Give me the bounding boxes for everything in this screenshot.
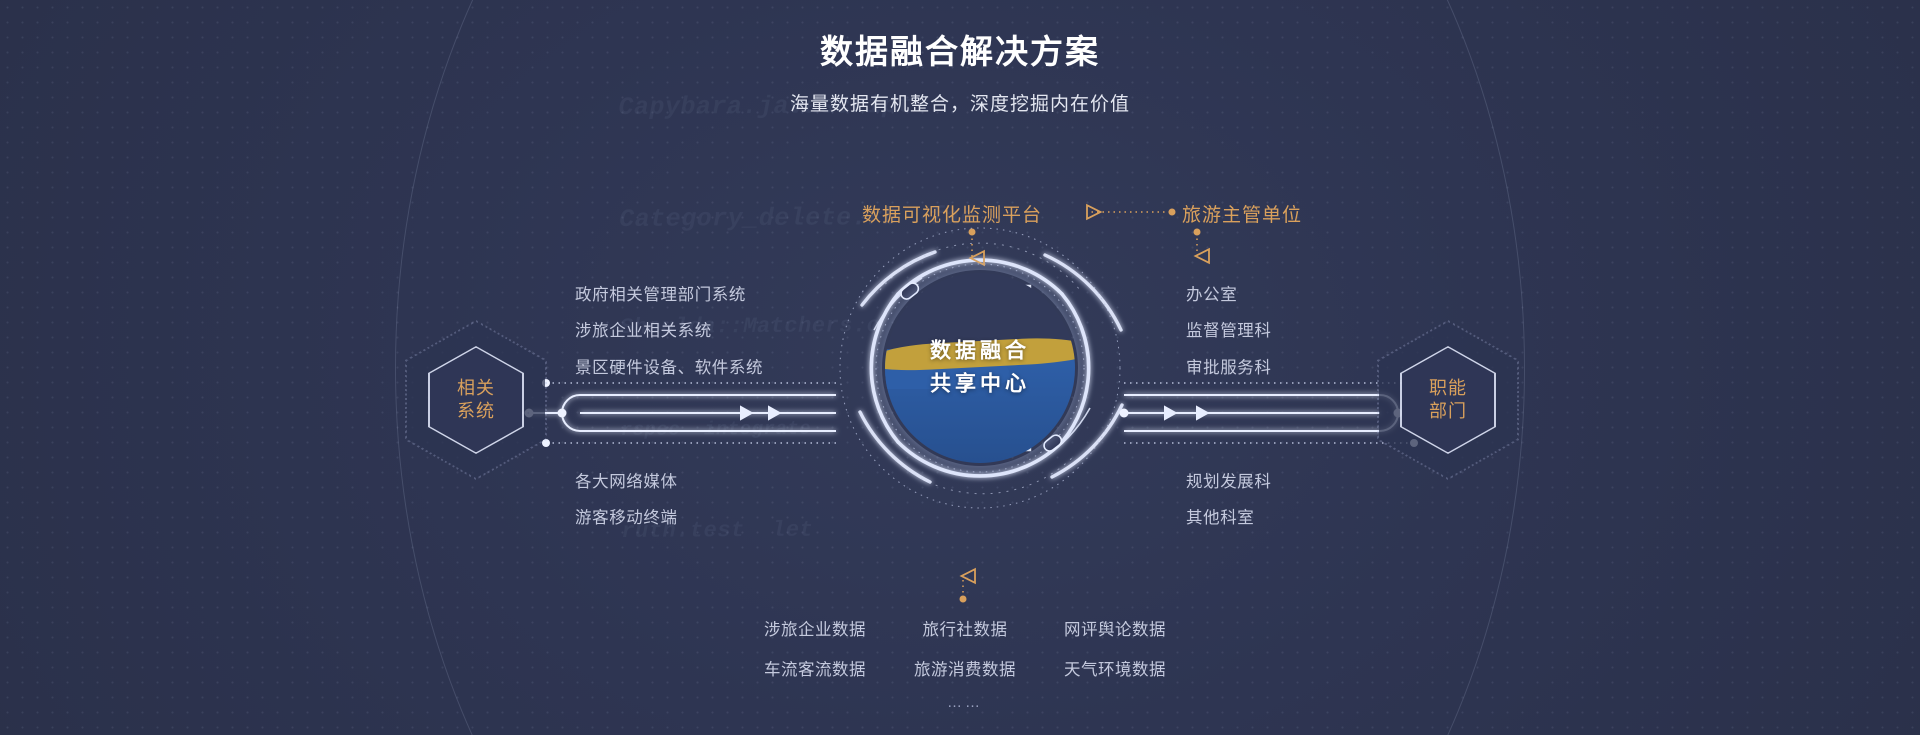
dept-other: 其他科室 — [1186, 504, 1254, 528]
hexagon-right-line1: 职能 — [1429, 377, 1467, 400]
dept-planning-development: 规划发展科 — [1186, 468, 1272, 492]
core-label-line2: 共享中心 — [864, 368, 1096, 401]
bottom-data-row: 涉旅企业数据 旅行社数据 网评舆论数据 — [740, 608, 1190, 648]
bottom-data-ellipsis: …… — [740, 694, 1190, 711]
dept-approval-service: 审批服务科 — [1186, 354, 1272, 378]
hexagon-right-text: 职能 部门 — [1429, 377, 1467, 424]
source-government-systems: 政府相关管理部门系统 — [575, 281, 746, 305]
hexagon-functional-departments[interactable]: 职能 部门 — [1400, 346, 1496, 454]
core-label-line1: 数据融合 — [864, 335, 1096, 368]
source-tourism-enterprise-systems: 涉旅企业相关系统 — [575, 317, 712, 341]
hexagon-left-line1: 相关 — [457, 377, 495, 400]
bottom-data-cell: 涉旅企业数据 — [740, 608, 890, 648]
bottom-data-cell: 旅游消费数据 — [890, 648, 1040, 688]
source-network-media: 各大网络媒体 — [575, 468, 678, 492]
hexagon-right-line2: 部门 — [1429, 400, 1467, 423]
bottom-data-cell: 旅行社数据 — [890, 608, 1040, 648]
hexagon-left-line2: 系统 — [457, 400, 495, 423]
bottom-data-sources: 涉旅企业数据 旅行社数据 网评舆论数据 车流客流数据 旅游消费数据 天气环境数据… — [740, 608, 1190, 711]
page-subtitle: 海量数据有机整合，深度挖掘内在价值 — [0, 89, 1920, 116]
bottom-data-cell: 网评舆论数据 — [1040, 608, 1190, 648]
source-scenic-hardware-software: 景区硬件设备、软件系统 — [575, 354, 763, 378]
dept-supervision: 监督管理科 — [1186, 317, 1272, 341]
page-title: 数据融合解决方案 — [0, 32, 1920, 72]
header: 数据融合解决方案 海量数据有机整合，深度挖掘内在价值 — [0, 32, 1920, 116]
dept-office: 办公室 — [1186, 281, 1237, 305]
bottom-data-row: 车流客流数据 旅游消费数据 天气环境数据 — [740, 648, 1190, 688]
hexagon-left-text: 相关 系统 — [457, 377, 495, 424]
bottom-data-cell: 车流客流数据 — [740, 648, 890, 688]
hexagon-related-systems[interactable]: 相关 系统 — [428, 346, 524, 454]
page-background: Capybara.javascript Category_delete.rb f… — [0, 0, 1920, 735]
source-tourist-mobile-terminal: 游客移动终端 — [575, 504, 678, 528]
label-tourism-authority[interactable]: 旅游主管单位 — [1182, 200, 1302, 227]
label-data-visualization-platform[interactable]: 数据可视化监测平台 — [862, 200, 1042, 227]
center-hub[interactable]: 数据融合 共享中心 — [864, 252, 1096, 484]
core-label: 数据融合 共享中心 — [864, 335, 1096, 400]
bottom-data-cell: 天气环境数据 — [1040, 648, 1190, 688]
